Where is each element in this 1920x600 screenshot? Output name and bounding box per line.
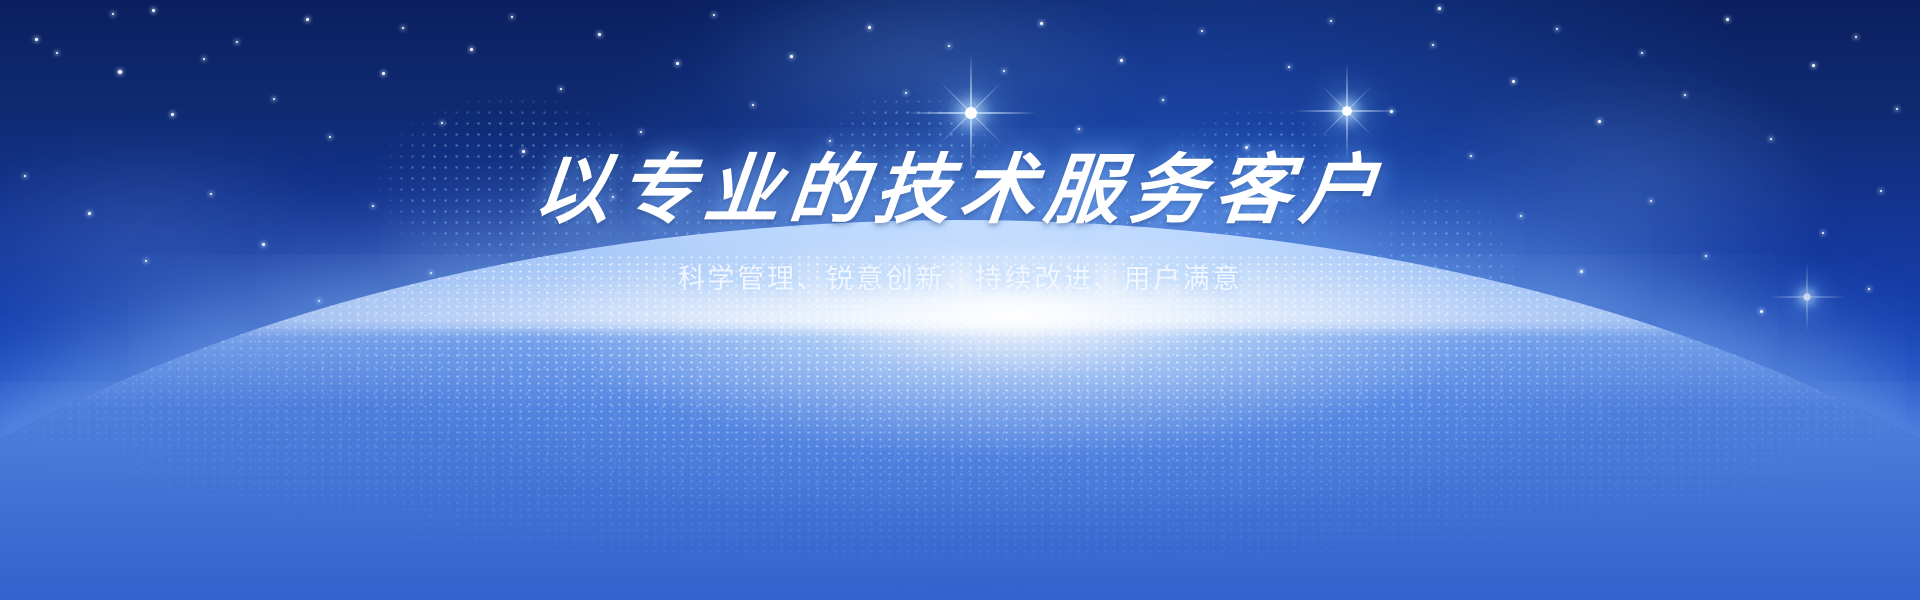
page-title: 以专业的技术服务客户 [0, 150, 1920, 231]
hero-banner: 以专业的技术服务客户 科学管理、锐意创新、持续改进、用户满意 [0, 0, 1920, 600]
city-lights [0, 254, 1920, 600]
banner-subtitle: 科学管理、锐意创新、持续改进、用户满意 [0, 257, 1920, 296]
banner-copy: 以专业的技术服务客户 科学管理、锐意创新、持续改进、用户满意 [0, 150, 1920, 296]
